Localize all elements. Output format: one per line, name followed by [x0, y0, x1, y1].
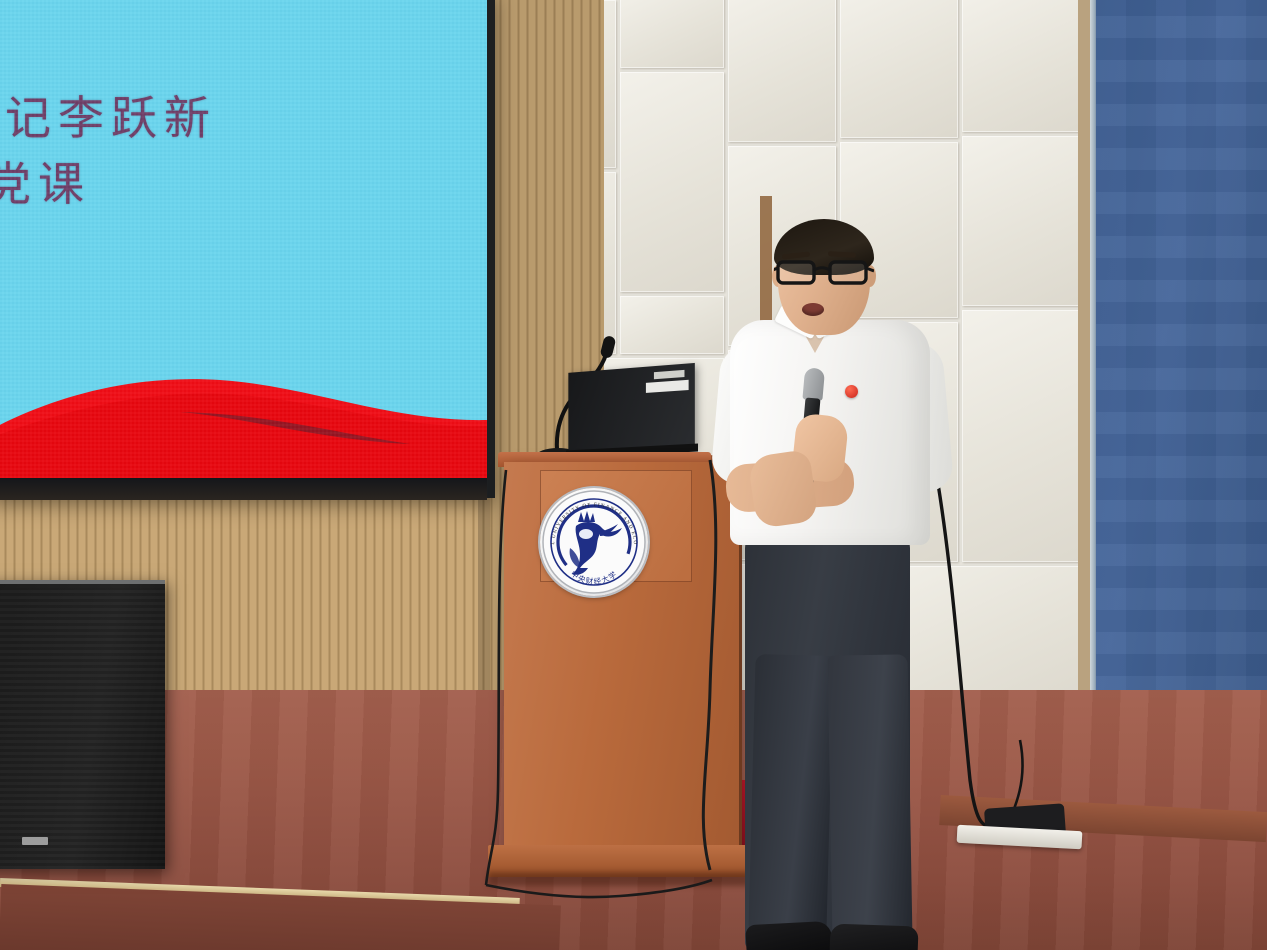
mouth [802, 303, 824, 316]
laptop-asset-sticker [646, 380, 689, 393]
shoe-right [829, 923, 918, 950]
leg-right [828, 654, 913, 940]
screen-bottom-edge [0, 478, 487, 500]
presenter-laptop [568, 363, 695, 453]
presenter [690, 225, 990, 950]
laptop-label-top [654, 370, 685, 379]
auditorium-photo: 书记李跃新 题党课 [0, 0, 1267, 950]
microphone-head [802, 367, 825, 401]
hand-right [747, 449, 818, 529]
slide-text-line-2: 题党课 [0, 148, 91, 214]
speaker-brand-badge [22, 837, 48, 845]
shoe-left [745, 921, 833, 950]
leg-left [748, 654, 833, 936]
projection-screen: 书记李跃新 题党课 [0, 0, 487, 478]
slide-text-line-1: 书记李跃新 [0, 82, 217, 148]
eyeglasses-icon [774, 257, 874, 287]
slide-red-ribbon-graphic [0, 368, 487, 478]
university-seal: CENTRAL UNIVERSITY OF FINANCE AND ECONOM… [540, 488, 648, 596]
party-emblem-pin [845, 385, 858, 398]
floor-loudspeaker [0, 580, 165, 869]
